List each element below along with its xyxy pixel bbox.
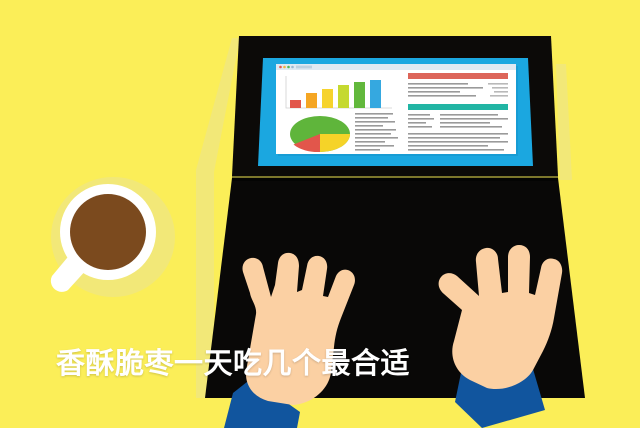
illustration-canvas: 香酥脆枣一天吃几个最合适 [0,0,640,428]
bar-4 [338,85,349,108]
report-header-red [408,73,508,79]
bar-6 [370,80,381,108]
window-control-minimize [283,66,286,69]
window-control-extra [291,66,294,69]
bar-1 [290,100,301,108]
dashboard-window [276,64,518,156]
window-control-maximize [287,66,290,69]
caption-text: 香酥脆枣一天吃几个最合适 [56,346,410,380]
window-control-close [279,66,282,69]
bar-2 [306,93,317,108]
coffee-liquid [70,194,146,270]
report-header-teal [408,104,508,110]
bar-5 [354,82,365,108]
pie-chart [290,116,350,152]
bar-3 [322,89,333,108]
